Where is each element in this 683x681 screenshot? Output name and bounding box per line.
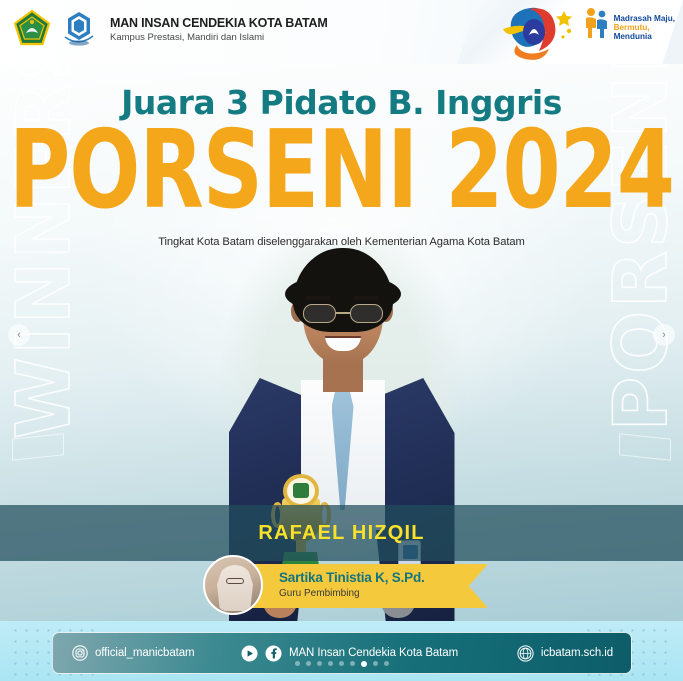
carousel-slide-page: MAN INSAN CENDEKIA KOTA BATAM Kampus Pre… bbox=[0, 0, 683, 681]
footer-instagram-group[interactable]: official_manicbatam bbox=[71, 645, 195, 662]
teacher-name: Sartika Tinistia K, S.Pd. bbox=[279, 570, 425, 585]
man-ic-logo bbox=[59, 9, 99, 49]
deco-rect-top-left bbox=[12, 433, 64, 460]
madrasah-line-3: Mendunia bbox=[614, 32, 675, 41]
eyebrow-left bbox=[305, 296, 331, 300]
header-right-logos: Madrasah Maju, Bermutu, Mendunia bbox=[478, 0, 683, 64]
carousel-next-button[interactable]: › bbox=[653, 324, 675, 346]
madrasah-maju-logo bbox=[583, 6, 609, 49]
carousel-dot-5[interactable] bbox=[339, 661, 344, 666]
madrasah-branding: Madrasah Maju, Bermutu, Mendunia bbox=[583, 6, 675, 49]
teacher-banner: Sartika Tinistia K, S.Pd. Guru Pembimbin… bbox=[213, 564, 488, 608]
carousel-dot-6[interactable] bbox=[350, 661, 355, 666]
carousel-prev-button[interactable]: ‹ bbox=[8, 324, 30, 346]
carousel-dot-9[interactable] bbox=[384, 661, 389, 666]
carousel-dot-indicators[interactable] bbox=[0, 661, 683, 667]
teacher-text-block: Sartika Tinistia K, S.Pd. Guru Pembimbin… bbox=[279, 570, 425, 599]
carousel-dot-8[interactable] bbox=[373, 661, 378, 666]
deco-rect-top-right bbox=[619, 433, 671, 460]
event-title: PORSENI 2024 bbox=[0, 121, 683, 221]
carousel-dot-2[interactable] bbox=[306, 661, 311, 666]
madrasah-line-1: Madrasah Maju, bbox=[614, 14, 675, 23]
chevron-left-icon: ‹ bbox=[17, 329, 21, 341]
eyebrow-right bbox=[353, 296, 379, 300]
carousel-dot-4[interactable] bbox=[328, 661, 333, 666]
site-header: MAN INSAN CENDEKIA KOTA BATAM Kampus Pre… bbox=[0, 0, 683, 64]
madrasah-tagline: Madrasah Maju, Bermutu, Mendunia bbox=[614, 14, 675, 42]
headline-block: Juara 3 Pidato B. Inggris PORSENI 2024 T… bbox=[0, 86, 683, 248]
madrasah-line-2: Bermutu, bbox=[614, 23, 675, 32]
footer-contact-bar: official_manicbatam MAN Insan Cendekia K… bbox=[52, 632, 632, 674]
school-tagline: Kampus Prestasi, Mandiri dan Islami bbox=[110, 32, 328, 43]
chevron-right-icon: › bbox=[662, 329, 666, 341]
header-text-block: MAN INSAN CENDEKIA KOTA BATAM Kampus Pre… bbox=[110, 16, 328, 43]
achievement-slide: WINNERS PORSENI Juara 3 Pidato B. Inggri… bbox=[0, 64, 683, 621]
website-seal-icon bbox=[517, 645, 534, 662]
website-url: icbatam.sch.id bbox=[541, 647, 613, 659]
carousel-dot-7[interactable] bbox=[361, 661, 367, 667]
teacher-role: Guru Pembimbing bbox=[279, 588, 425, 599]
glasses-icon bbox=[299, 304, 387, 323]
footer-social-group[interactable]: MAN Insan Cendekia Kota Batam bbox=[241, 645, 458, 662]
winner-name: RAFAEL HIZQIL bbox=[258, 522, 424, 545]
instagram-icon bbox=[71, 645, 88, 662]
kemenag-logo bbox=[12, 9, 52, 49]
instagram-handle: official_manicbatam bbox=[95, 647, 195, 659]
event-description: Tingkat Kota Batam diselenggarakan oleh … bbox=[0, 236, 683, 248]
footer-website-group[interactable]: icbatam.sch.id bbox=[517, 645, 613, 662]
facebook-icon bbox=[265, 645, 282, 662]
school-name: MAN INSAN CENDEKIA KOTA BATAM bbox=[110, 16, 328, 30]
youtube-icon bbox=[241, 645, 258, 662]
teacher-avatar bbox=[203, 555, 263, 615]
winner-name-banner: RAFAEL HIZQIL bbox=[0, 505, 683, 561]
social-account-name: MAN Insan Cendekia Kota Batam bbox=[289, 647, 458, 659]
carousel-dot-3[interactable] bbox=[317, 661, 322, 666]
header-branding: MAN INSAN CENDEKIA KOTA BATAM Kampus Pre… bbox=[12, 9, 328, 49]
porseni-logo bbox=[495, 3, 581, 64]
carousel-dot-1[interactable] bbox=[295, 661, 300, 666]
